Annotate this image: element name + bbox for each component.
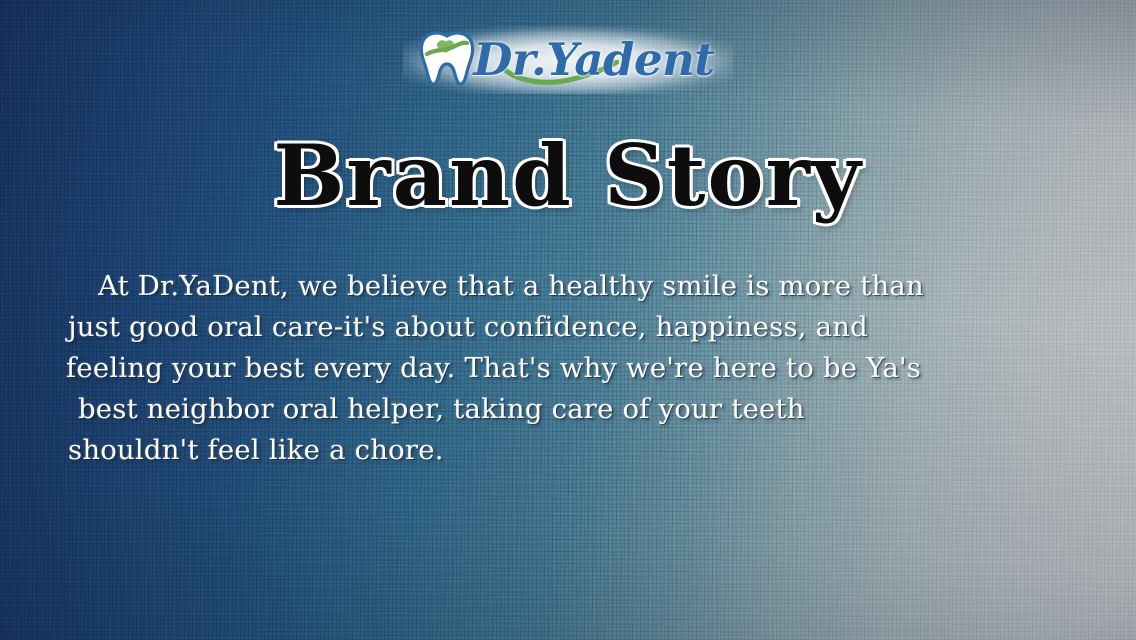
paragraph-line-1: At Dr.YaDent, we believe that a healthy … (64, 266, 1060, 307)
tooth-icon (415, 30, 479, 88)
paragraph-line-4: best neighbor oral helper, taking care o… (64, 389, 1060, 430)
brand-logo: Dr.Yadent (403, 26, 732, 94)
page-title: Brand Story (0, 132, 1136, 220)
brand-story-paragraph: At Dr.YaDent, we believe that a healthy … (64, 266, 1060, 471)
brand-story-slide: Dr.Yadent Brand Story At Dr.YaDent, we b… (0, 0, 1136, 640)
paragraph-line-5: shouldn't feel like a chore. (64, 430, 1060, 471)
brand-wordmark: Dr.Yadent (473, 37, 714, 82)
logo-container: Dr.Yadent (0, 26, 1136, 94)
paragraph-line-2: just good oral care-it's about confidenc… (64, 307, 1060, 348)
paragraph-line-3: feeling your best every day. That's why … (64, 348, 1060, 389)
